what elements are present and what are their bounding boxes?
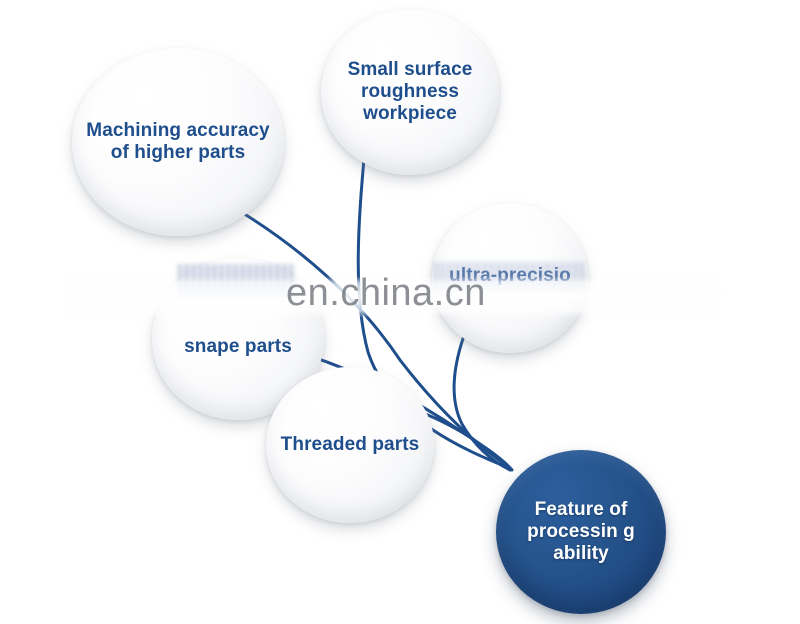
node-ultra-precision[interactable]: ultra-precisio bbox=[432, 203, 588, 353]
node-feature-of-processing-ability[interactable]: Feature of processin g ability bbox=[496, 450, 666, 614]
node-feature-of-processing-ability-label: Feature of processin g ability bbox=[496, 499, 666, 565]
node-small-surface-roughness-label: Small surface roughness workpiece bbox=[321, 59, 499, 125]
node-ultra-precision-label: ultra-precisio bbox=[443, 265, 577, 287]
node-small-surface-roughness[interactable]: Small surface roughness workpiece bbox=[321, 9, 499, 175]
node-shape-parts-label: snape parts bbox=[178, 336, 298, 358]
node-threaded-parts-label: Threaded parts bbox=[275, 434, 426, 456]
node-threaded-parts[interactable]: Threaded parts bbox=[266, 367, 434, 523]
node-machining-accuracy[interactable]: Machining accuracy of higher parts bbox=[72, 48, 284, 236]
diagram-canvas: Machining accuracy of higher parts Small… bbox=[0, 0, 800, 624]
node-machining-accuracy-label: Machining accuracy of higher parts bbox=[72, 120, 284, 164]
